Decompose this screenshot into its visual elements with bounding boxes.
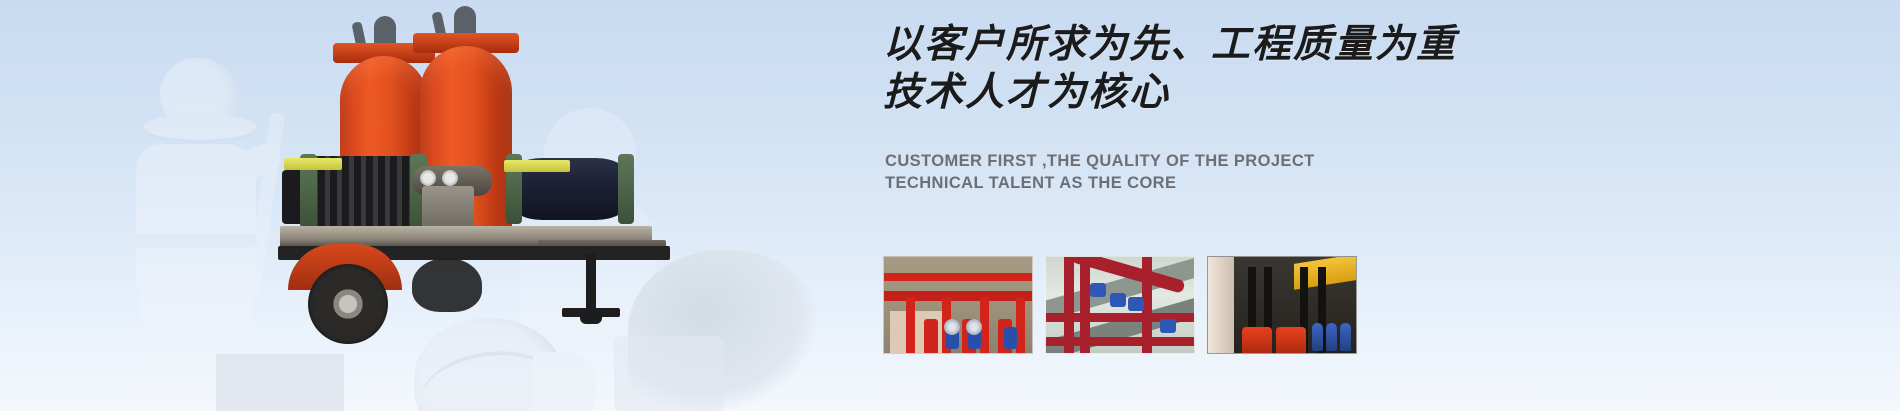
thumbnail-standpipe-stairwell[interactable] [1045, 256, 1195, 354]
pressure-gauge-1 [420, 170, 436, 186]
stabilizer-pad [580, 314, 602, 324]
yellow-bracket-right [504, 160, 570, 172]
hero-banner: 以客户所求为先、工程质量为重 技术人才为核心 CUSTOMER FIRST ,T… [0, 0, 1900, 411]
thumbnail-pump-room[interactable] [1207, 256, 1357, 354]
thumbnail-sprinkler-piping[interactable] [883, 256, 1033, 354]
pressure-gauge-2 [442, 170, 458, 186]
banner-content: 以客户所求为先、工程质量为重 技术人才为核心 CUSTOMER FIRST ,T… [883, 0, 1503, 411]
headline-chinese: 以客户所求为先、工程质量为重 技术人才为核心 [883, 20, 1503, 116]
thumbnail-strip [883, 256, 1357, 354]
trailer-wheel-rear [412, 258, 482, 312]
reel-hub-right-b [618, 154, 634, 224]
firefighter-watermark-icon [108, 48, 288, 378]
subheadline-english: CUSTOMER FIRST ,THE QUALITY OF THE PROJE… [885, 150, 1505, 194]
yellow-bracket-left [284, 158, 342, 170]
product-photo-fire-trailer [262, 8, 682, 348]
stabilizer-leg [586, 254, 596, 316]
trailer-wheel-front [308, 264, 388, 344]
